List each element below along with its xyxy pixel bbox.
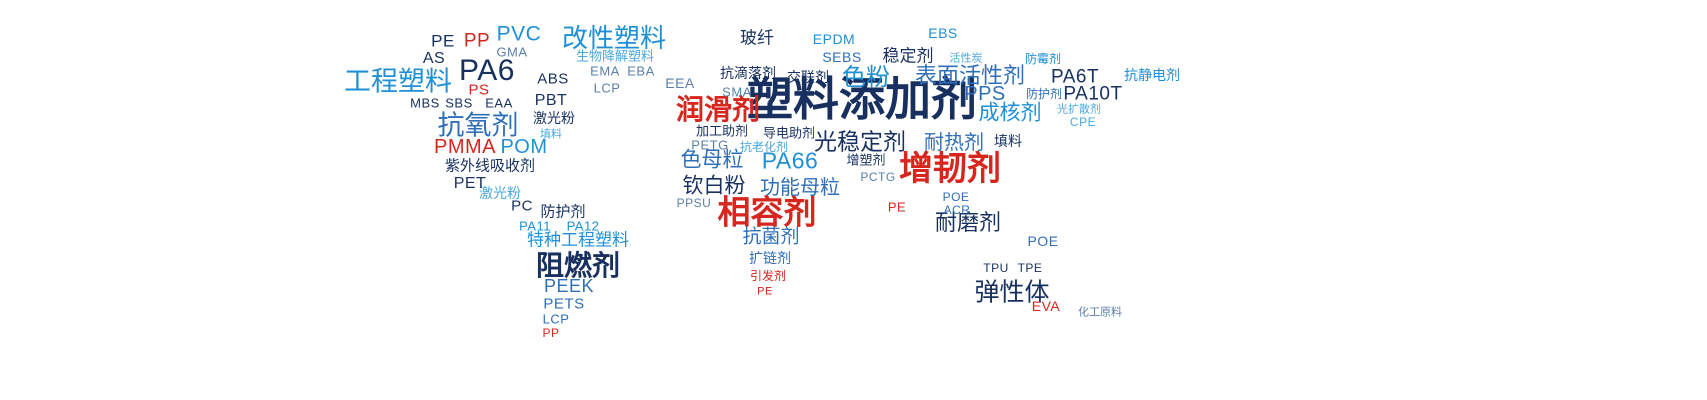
- word-cloud-term[interactable]: EMA: [590, 65, 620, 78]
- word-cloud-term[interactable]: PE: [431, 33, 455, 50]
- word-cloud-term[interactable]: PA11: [519, 220, 551, 233]
- word-cloud-term[interactable]: 特种工程塑料: [527, 233, 629, 250]
- word-cloud-term[interactable]: PEEK: [544, 277, 594, 295]
- word-cloud-term[interactable]: 耐热剂: [924, 132, 984, 152]
- word-cloud-term[interactable]: EEA: [665, 76, 695, 90]
- word-cloud-term[interactable]: SBS: [445, 97, 473, 110]
- word-cloud-term[interactable]: PCTG: [860, 171, 895, 183]
- word-cloud-term[interactable]: GMA: [496, 46, 527, 59]
- word-cloud-term[interactable]: 抗静电剂: [1124, 69, 1180, 83]
- word-cloud-term[interactable]: 相容剂: [718, 196, 817, 229]
- word-cloud-term[interactable]: 生物降解塑料: [576, 51, 654, 64]
- word-cloud-term[interactable]: 光稳定剂: [814, 132, 906, 155]
- word-cloud-term[interactable]: 紫外线吸收剂: [445, 159, 535, 174]
- word-cloud-term[interactable]: LCP: [594, 82, 621, 95]
- word-cloud-term[interactable]: PET: [454, 176, 487, 192]
- word-cloud-term[interactable]: ABS: [537, 72, 569, 87]
- word-cloud-term[interactable]: PPSU: [677, 197, 712, 209]
- word-cloud-term[interactable]: PA12: [567, 220, 600, 233]
- word-cloud-term[interactable]: 防护剂: [540, 205, 585, 220]
- word-cloud-term[interactable]: 活性炭: [950, 53, 983, 64]
- word-cloud-term[interactable]: 增韧剂: [899, 152, 1001, 186]
- word-cloud-term[interactable]: 填料: [994, 135, 1022, 149]
- word-cloud-term[interactable]: 改性塑料: [562, 26, 666, 52]
- word-cloud-term[interactable]: TPU: [983, 262, 1009, 274]
- word-cloud-term[interactable]: PMMA: [434, 137, 496, 157]
- word-cloud-term[interactable]: 光扩散剂: [1057, 104, 1101, 115]
- word-cloud-term[interactable]: EVA: [1032, 299, 1060, 313]
- word-cloud-term[interactable]: 引发剂: [750, 270, 786, 282]
- word-cloud-term[interactable]: EPDM: [813, 32, 855, 46]
- word-cloud-term[interactable]: 抗滴落剂: [720, 67, 776, 81]
- word-cloud-term[interactable]: 抗老化剂: [740, 141, 788, 153]
- word-cloud-term[interactable]: PA10T: [1063, 85, 1122, 104]
- word-cloud-term[interactable]: PPS: [964, 84, 1006, 104]
- word-cloud-term[interactable]: MBS: [410, 97, 440, 110]
- word-cloud-term[interactable]: 成核剂: [979, 103, 1042, 124]
- word-cloud-term[interactable]: 润滑剂: [676, 96, 760, 124]
- word-cloud-term[interactable]: SMA: [722, 86, 752, 99]
- word-cloud-term[interactable]: 交联剂: [787, 71, 829, 85]
- word-cloud-term[interactable]: 填料: [540, 129, 562, 140]
- word-cloud-term[interactable]: AS: [423, 51, 445, 67]
- word-cloud-term[interactable]: POE: [943, 191, 970, 203]
- word-cloud-term[interactable]: 防霉剂: [1025, 53, 1061, 65]
- word-cloud-term[interactable]: 钦白粉: [683, 176, 746, 197]
- word-cloud-term[interactable]: 防护剂: [1026, 88, 1062, 100]
- word-cloud-term[interactable]: 玻纤: [740, 31, 774, 48]
- word-cloud-term[interactable]: 抗菌剂: [742, 228, 799, 247]
- word-cloud-term[interactable]: LCP: [543, 313, 570, 326]
- word-cloud-term[interactable]: SEBS: [822, 50, 861, 64]
- word-cloud-term[interactable]: 增塑剂: [846, 155, 885, 168]
- word-cloud-term[interactable]: 稳定剂: [883, 49, 934, 66]
- word-cloud-term[interactable]: 扩链剂: [749, 252, 791, 266]
- word-cloud-term[interactable]: TPE: [1018, 262, 1043, 274]
- word-cloud-canvas: 塑料添加剂增韧剂相容剂润滑剂阻燃剂工程塑料改性塑料抗氧剂PA6表面活性剂光稳定剂…: [0, 0, 1707, 400]
- word-cloud-term[interactable]: 化工原料: [1078, 307, 1122, 318]
- word-cloud-term[interactable]: 色粉: [842, 65, 890, 89]
- word-cloud-term[interactable]: CPE: [1070, 116, 1096, 128]
- word-cloud-term[interactable]: 导电助剂: [763, 128, 815, 141]
- word-cloud-term[interactable]: 功能母粒: [760, 177, 840, 197]
- word-cloud-term[interactable]: PE: [888, 201, 906, 214]
- word-cloud-term[interactable]: PETS: [543, 297, 584, 312]
- word-cloud-term[interactable]: EBA: [627, 65, 655, 78]
- word-cloud-term[interactable]: ACR: [944, 204, 971, 216]
- word-cloud-term[interactable]: PVC: [497, 24, 542, 45]
- word-cloud-term[interactable]: PP: [542, 327, 559, 339]
- word-cloud-term[interactable]: 工程塑料: [344, 69, 452, 96]
- word-cloud-term[interactable]: EBS: [928, 26, 958, 40]
- word-cloud-term[interactable]: PE: [757, 287, 773, 298]
- word-cloud-term[interactable]: 色母粒: [681, 150, 744, 171]
- word-cloud-term[interactable]: POE: [1027, 234, 1058, 248]
- word-cloud-term[interactable]: PETG: [691, 139, 728, 152]
- word-cloud-term[interactable]: 激光粉: [533, 112, 575, 126]
- word-cloud-term[interactable]: PP: [464, 32, 490, 51]
- word-cloud-term[interactable]: PBT: [535, 93, 568, 109]
- word-cloud-term[interactable]: EAA: [485, 97, 513, 110]
